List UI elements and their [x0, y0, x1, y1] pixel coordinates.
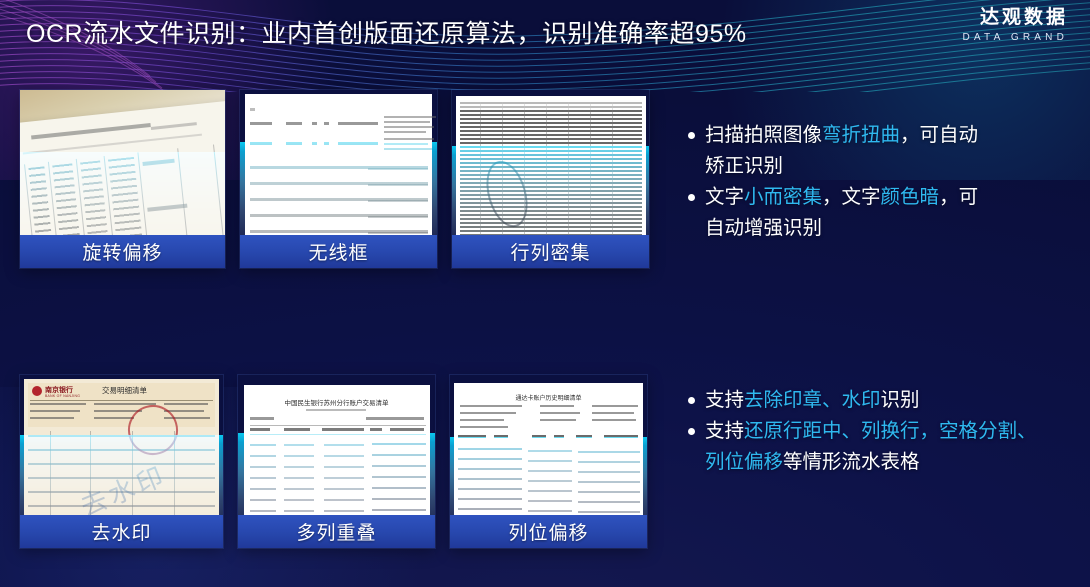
- card-borderless-table[interactable]: 无线框: [240, 90, 437, 268]
- card-dense-rows-columns[interactable]: 行列密集: [452, 90, 649, 268]
- bullet-text: 支持: [705, 420, 744, 442]
- bullet-text: 自动增强识别: [705, 217, 822, 239]
- brand-logo: 达观数据 DATA GRAND: [962, 8, 1068, 43]
- bullet-line: 自动增强识别: [705, 213, 1066, 244]
- bullet-text: ，文字: [822, 186, 881, 208]
- scan-overlay: [20, 435, 223, 525]
- bullet-text: 矫正识别: [705, 155, 783, 177]
- card-rotated-offset[interactable]: 旋转偏移: [20, 90, 225, 268]
- bullet-text: 等情形流水表格: [783, 451, 920, 473]
- bullet-line: 支持还原行距中、列换行，空格分割、: [705, 416, 1066, 447]
- bullet-line: 矫正识别: [705, 151, 1066, 182]
- card-remove-watermark[interactable]: 南京银行 BANK OF NANJING 交易明细清单: [20, 375, 223, 548]
- bullet-highlight-text: 列位偏移: [705, 451, 783, 473]
- bank-name-en: BANK OF NANJING: [45, 394, 80, 398]
- bullet-text: ，可自动: [900, 124, 978, 146]
- card-caption: 多列重叠: [238, 515, 435, 548]
- bullet-item: 扫描拍照图像弯折扭曲，可自动矫正识别: [686, 120, 1066, 182]
- card-caption: 列位偏移: [450, 515, 647, 548]
- bullet-line: 文字小而密集，文字颜色暗，可: [705, 182, 1066, 213]
- bullet-item: 文字小而密集，文字颜色暗，可自动增强识别: [686, 182, 1066, 244]
- scan-overlay: [452, 146, 649, 238]
- page-title: OCR流水文件识别：业内首创版面还原算法，识别准确率超95%: [26, 14, 747, 50]
- bullet-highlight-text: 还原行距中、列换行，空格分割、: [744, 420, 1037, 442]
- bullet-line: 扫描拍照图像弯折扭曲，可自动: [705, 120, 1066, 151]
- scan-overlay: [450, 437, 647, 525]
- bullet-group-bottom: 支持去除印章、水印识别支持还原行距中、列换行，空格分割、列位偏移等情形流水表格: [686, 385, 1066, 478]
- card-multi-column-overlap[interactable]: 中国民生银行苏州分行账户交易清单 多列重叠: [238, 375, 435, 548]
- scan-overlay: [238, 433, 435, 525]
- bullet-highlight-text: 颜色暗: [881, 186, 940, 208]
- statement-title: 中国民生银行苏州分行账户交易清单: [246, 397, 427, 407]
- header: OCR流水文件识别：业内首创版面还原算法，识别准确率超95% 达观数据 DATA…: [0, 0, 1090, 66]
- bullet-line: 列位偏移等情形流水表格: [705, 447, 1066, 478]
- bullet-group-top: 扫描拍照图像弯折扭曲，可自动矫正识别文字小而密集，文字颜色暗，可自动增强识别: [686, 120, 1066, 244]
- bullet-text: 文字: [705, 186, 744, 208]
- card-caption: 行列密集: [452, 235, 649, 268]
- card-column-shift[interactable]: 通达卡账户历史明细清单: [450, 375, 647, 548]
- bullet-highlight-text: 弯折扭曲: [822, 124, 900, 146]
- brand-name-cn: 达观数据: [962, 8, 1068, 29]
- bullet-line: 支持去除印章、水印识别: [705, 385, 1066, 416]
- bullet-item: 支持去除印章、水印识别: [686, 385, 1066, 416]
- scan-overlay: [240, 142, 437, 237]
- bullet-highlight-text: 去除印章、水印: [744, 389, 881, 411]
- bullet-item: 支持还原行距中、列换行，空格分割、列位偏移等情形流水表格: [686, 416, 1066, 478]
- bullet-highlight-text: 小而密集: [744, 186, 822, 208]
- brand-name-en: DATA GRAND: [962, 32, 1068, 43]
- slide-canvas: OCR流水文件识别：业内首创版面还原算法，识别准确率超95% 达观数据 DATA…: [0, 0, 1090, 587]
- bullet-text: 支持: [705, 389, 744, 411]
- scan-overlay: [20, 152, 225, 234]
- bullet-text: 扫描拍照图像: [705, 124, 822, 146]
- bullet-text: 识别: [881, 389, 920, 411]
- bullet-text: ，可: [939, 186, 978, 208]
- card-caption: 去水印: [20, 515, 223, 548]
- statement-title: 通达卡账户历史明细清单: [456, 393, 641, 402]
- statement-header: 南京银行 BANK OF NANJING 交易明细清单: [28, 383, 215, 427]
- card-caption: 无线框: [240, 235, 437, 268]
- statement-title: 交易明细清单: [102, 385, 147, 396]
- card-caption: 旋转偏移: [20, 235, 225, 268]
